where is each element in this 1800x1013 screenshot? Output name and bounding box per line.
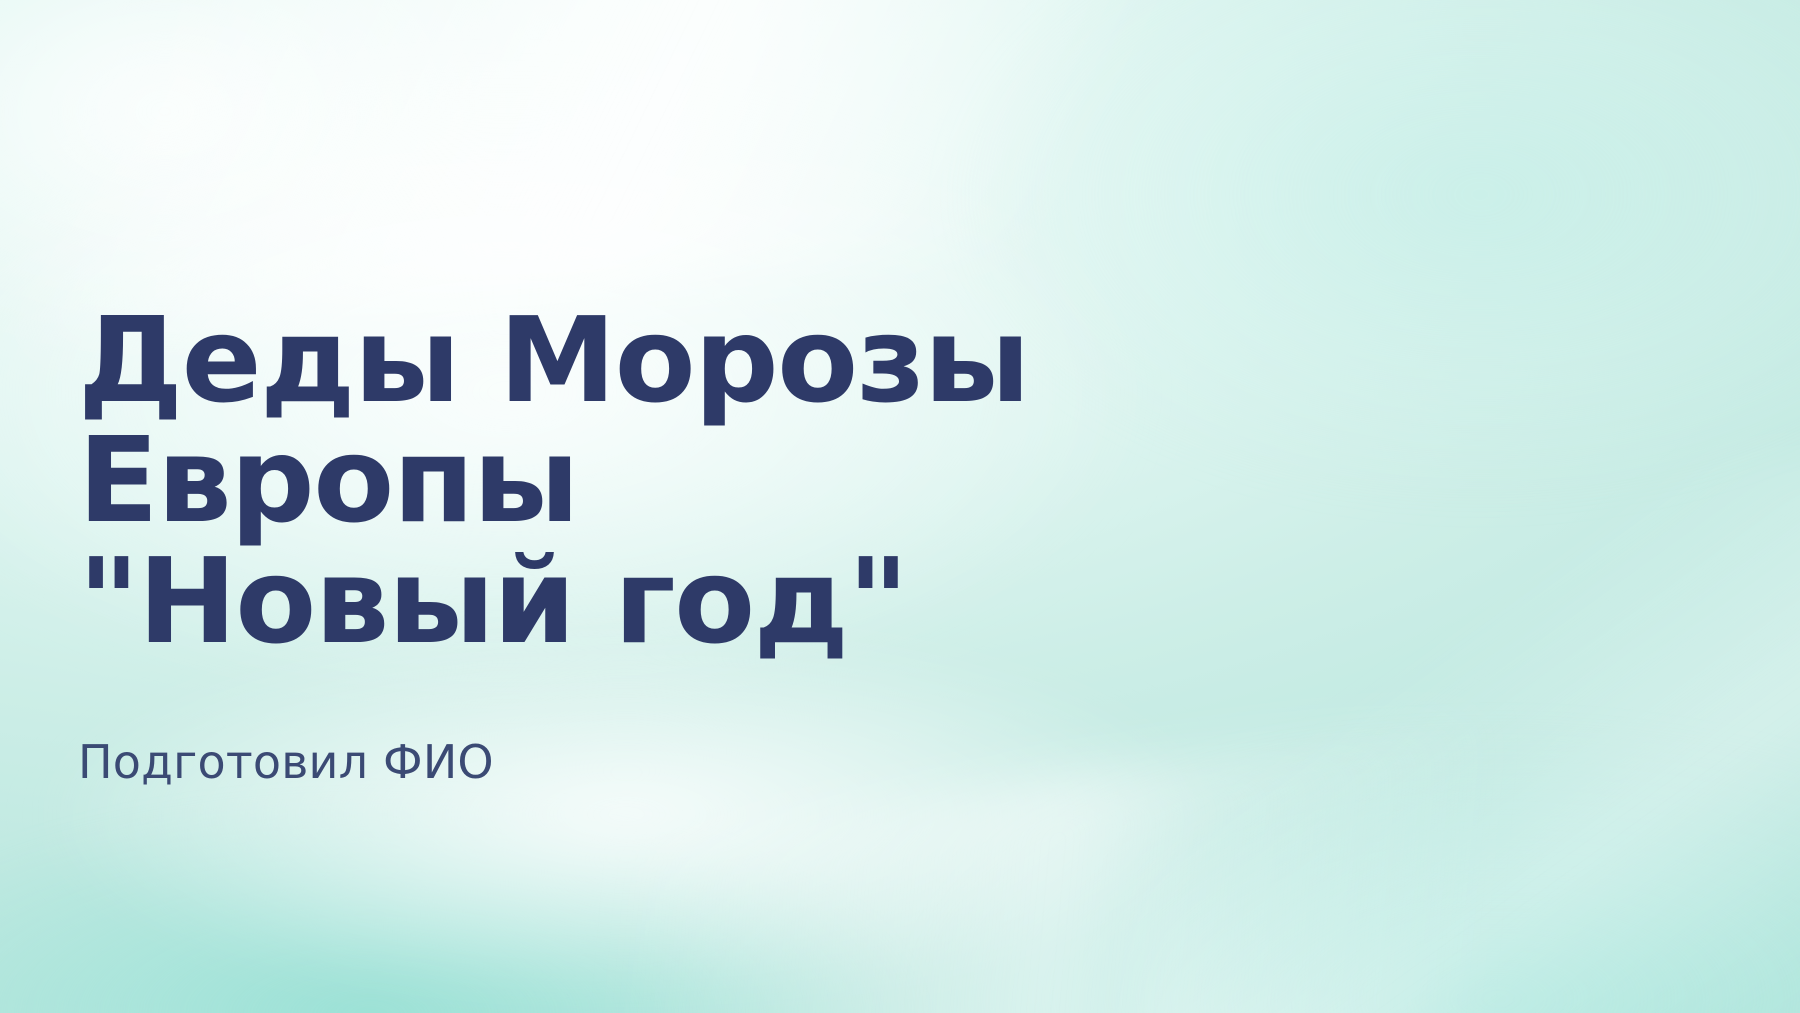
slide-text-block: Деды Морозы Европы "Новый год" Подготови… xyxy=(78,300,1418,790)
slide-subtitle: Подготовил ФИО xyxy=(78,661,1418,790)
slide-title: Деды Морозы Европы "Новый год" xyxy=(78,300,1418,661)
presentation-slide: Деды Морозы Европы "Новый год" Подготови… xyxy=(0,0,1800,1013)
